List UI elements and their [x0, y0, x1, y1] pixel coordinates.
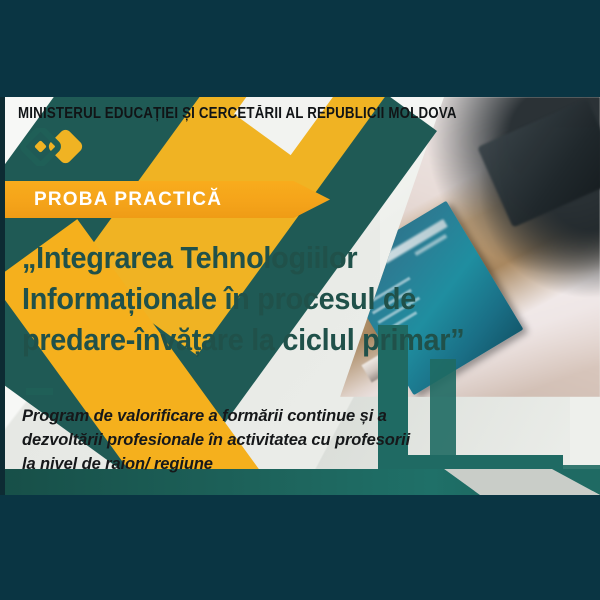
- slide-subtitle-line-2: dezvoltării profesionale în activitatea …: [22, 429, 492, 453]
- ministry-name-text: MINISTERUL EDUCAȚIEI ȘI CERCETĂRII AL RE…: [18, 105, 457, 123]
- decor-left-rail: [0, 97, 5, 495]
- ministry-header: MINISTERUL EDUCAȚIEI ȘI CERCETĂRII AL RE…: [18, 105, 528, 166]
- proba-practica-ribbon: PROBA PRACTICĂ: [0, 181, 330, 218]
- presentation-slide: MINISTERUL EDUCAȚIEI ȘI CERCETĂRII AL RE…: [0, 97, 600, 495]
- slide-subtitle-line-1: Program de valorificare a formării conti…: [22, 405, 492, 429]
- slide-title: „Integrarea Tehnologiilor Informaționale…: [22, 237, 459, 361]
- ribbon-label: PROBA PRACTICĂ: [34, 189, 222, 211]
- ministry-diamond-logo: [18, 128, 92, 166]
- slide-letterbox-frame: MINISTERUL EDUCAȚIEI ȘI CERCETĂRII AL RE…: [0, 0, 600, 600]
- slide-title-line-3: predare-învățare la ciclul primar”: [22, 319, 459, 360]
- slide-title-line-2: Informaționale în procesul de: [22, 278, 459, 319]
- slide-subtitle: Program de valorificare a formării conti…: [22, 405, 492, 476]
- slide-subtitle-line-3: la nivel de raion/ regiune: [22, 453, 492, 477]
- slide-title-line-1: „Integrarea Tehnologiilor: [22, 237, 459, 278]
- subtitle-dash: [26, 388, 53, 395]
